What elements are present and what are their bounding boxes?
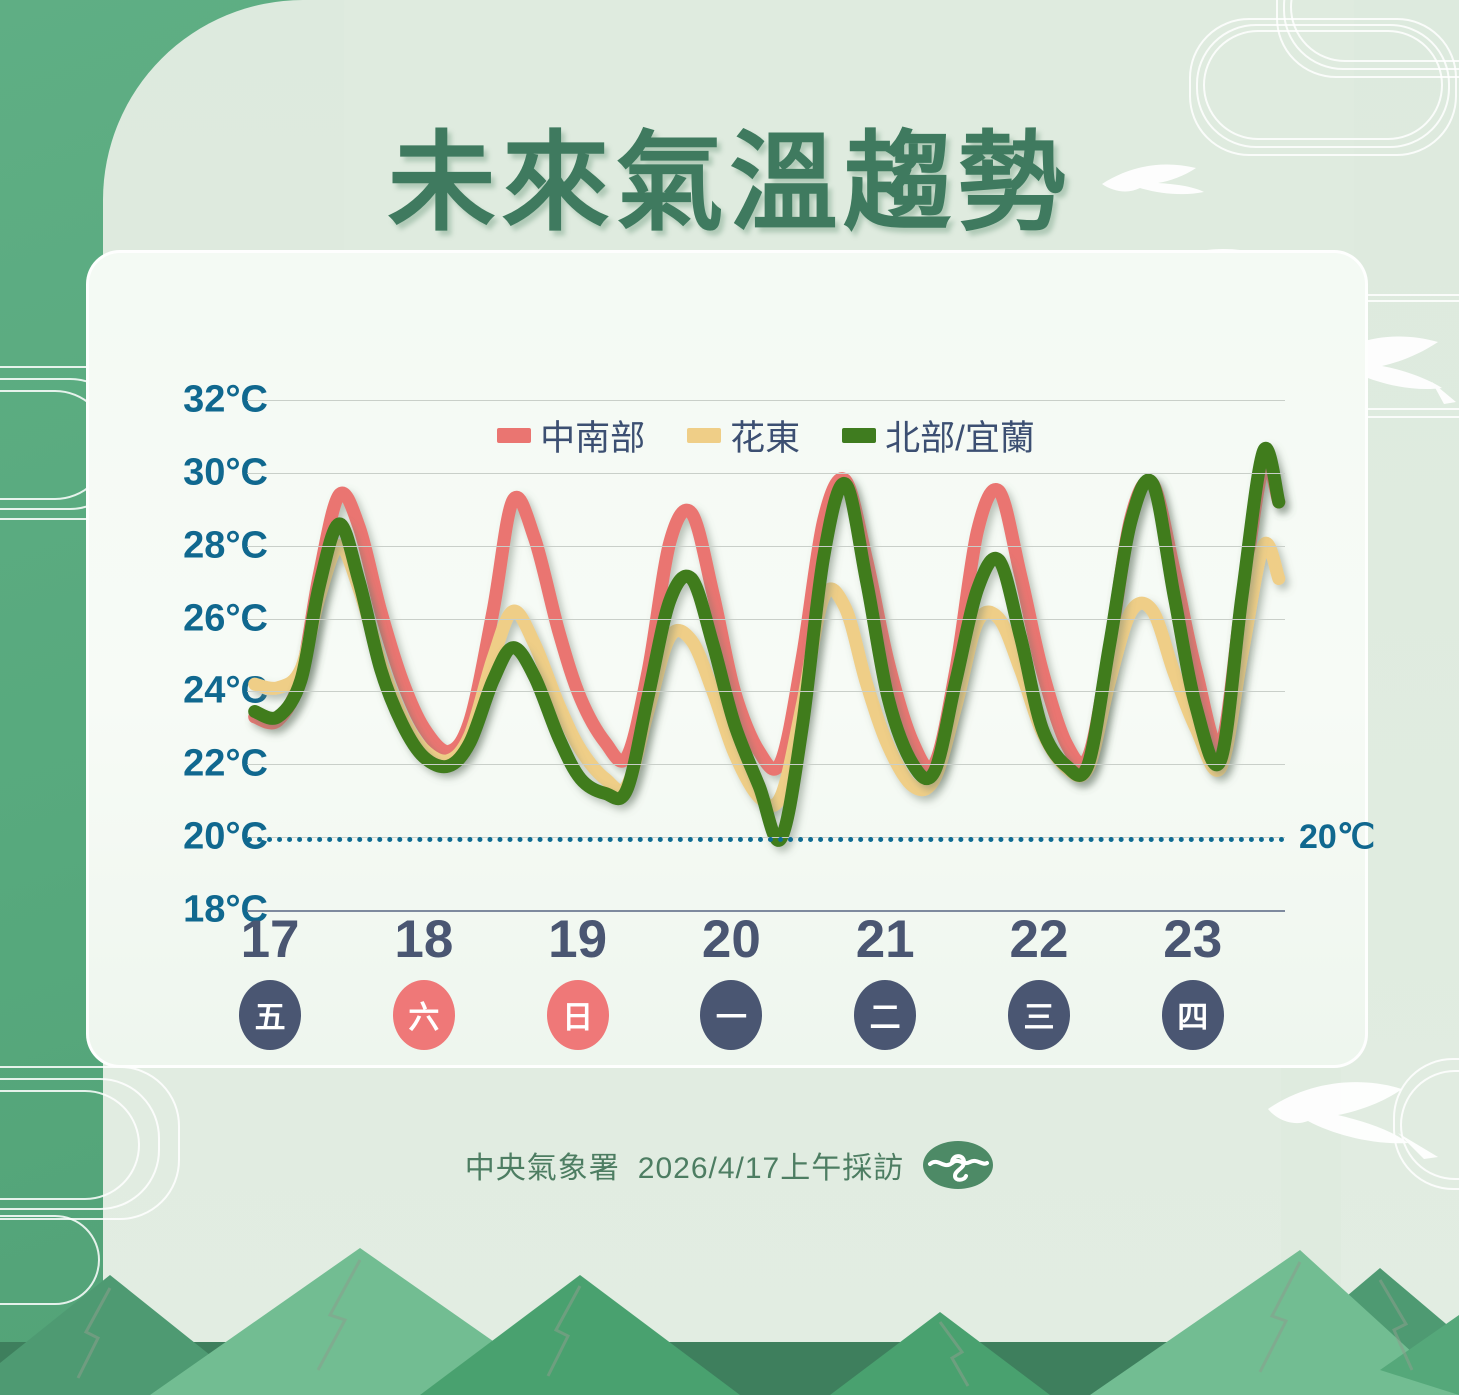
weekday-badge: 日 (547, 980, 609, 1050)
x-axis-day-21: 21二 (825, 912, 945, 1050)
day-number: 23 (1133, 912, 1253, 968)
weekday-badge: 一 (700, 980, 762, 1050)
day-number: 20 (671, 912, 791, 968)
weekday-badge: 六 (393, 980, 455, 1050)
footer-timestamp: 2026/4/17上午採訪 (638, 1143, 904, 1187)
day-number: 17 (210, 912, 330, 968)
x-axis-day-20: 20一 (671, 912, 791, 1050)
day-number: 21 (825, 912, 945, 968)
day-number: 19 (518, 912, 638, 968)
gridline-26 (247, 619, 1285, 620)
weekday-badge: 四 (1162, 980, 1224, 1050)
reference-line-20c (247, 837, 1285, 842)
x-axis: 17五18六19日20一21二22三23四 (247, 912, 1285, 1072)
gridline-24 (247, 691, 1285, 692)
x-axis-day-23: 23四 (1133, 912, 1253, 1050)
x-axis-day-22: 22三 (979, 912, 1099, 1050)
cwa-logo (922, 1140, 994, 1190)
gridline-28 (247, 546, 1285, 547)
x-axis-day-18: 18六 (364, 912, 484, 1050)
x-axis-day-19: 19日 (518, 912, 638, 1050)
footer: 中央氣象署 2026/4/17上午採訪 (0, 1140, 1459, 1190)
x-axis-day-17: 17五 (210, 912, 330, 1050)
gridline-22 (247, 764, 1285, 765)
gridline-32 (247, 400, 1285, 401)
footer-agency: 中央氣象署 (465, 1143, 620, 1187)
page-title: 未來氣溫趨勢 (0, 96, 1459, 252)
weekday-badge: 三 (1008, 980, 1070, 1050)
day-number: 18 (364, 912, 484, 968)
gridline-30 (247, 473, 1285, 474)
reference-line-label: 20℃ (1299, 817, 1375, 857)
weekday-badge: 五 (239, 980, 301, 1050)
weekday-badge: 二 (854, 980, 916, 1050)
mountain-decoration (0, 1220, 1459, 1395)
day-number: 22 (979, 912, 1099, 968)
temperature-chart: 18°C20°C22°C24°C26°C28°C30°C32°C 中南部花東北部… (86, 250, 1368, 1068)
